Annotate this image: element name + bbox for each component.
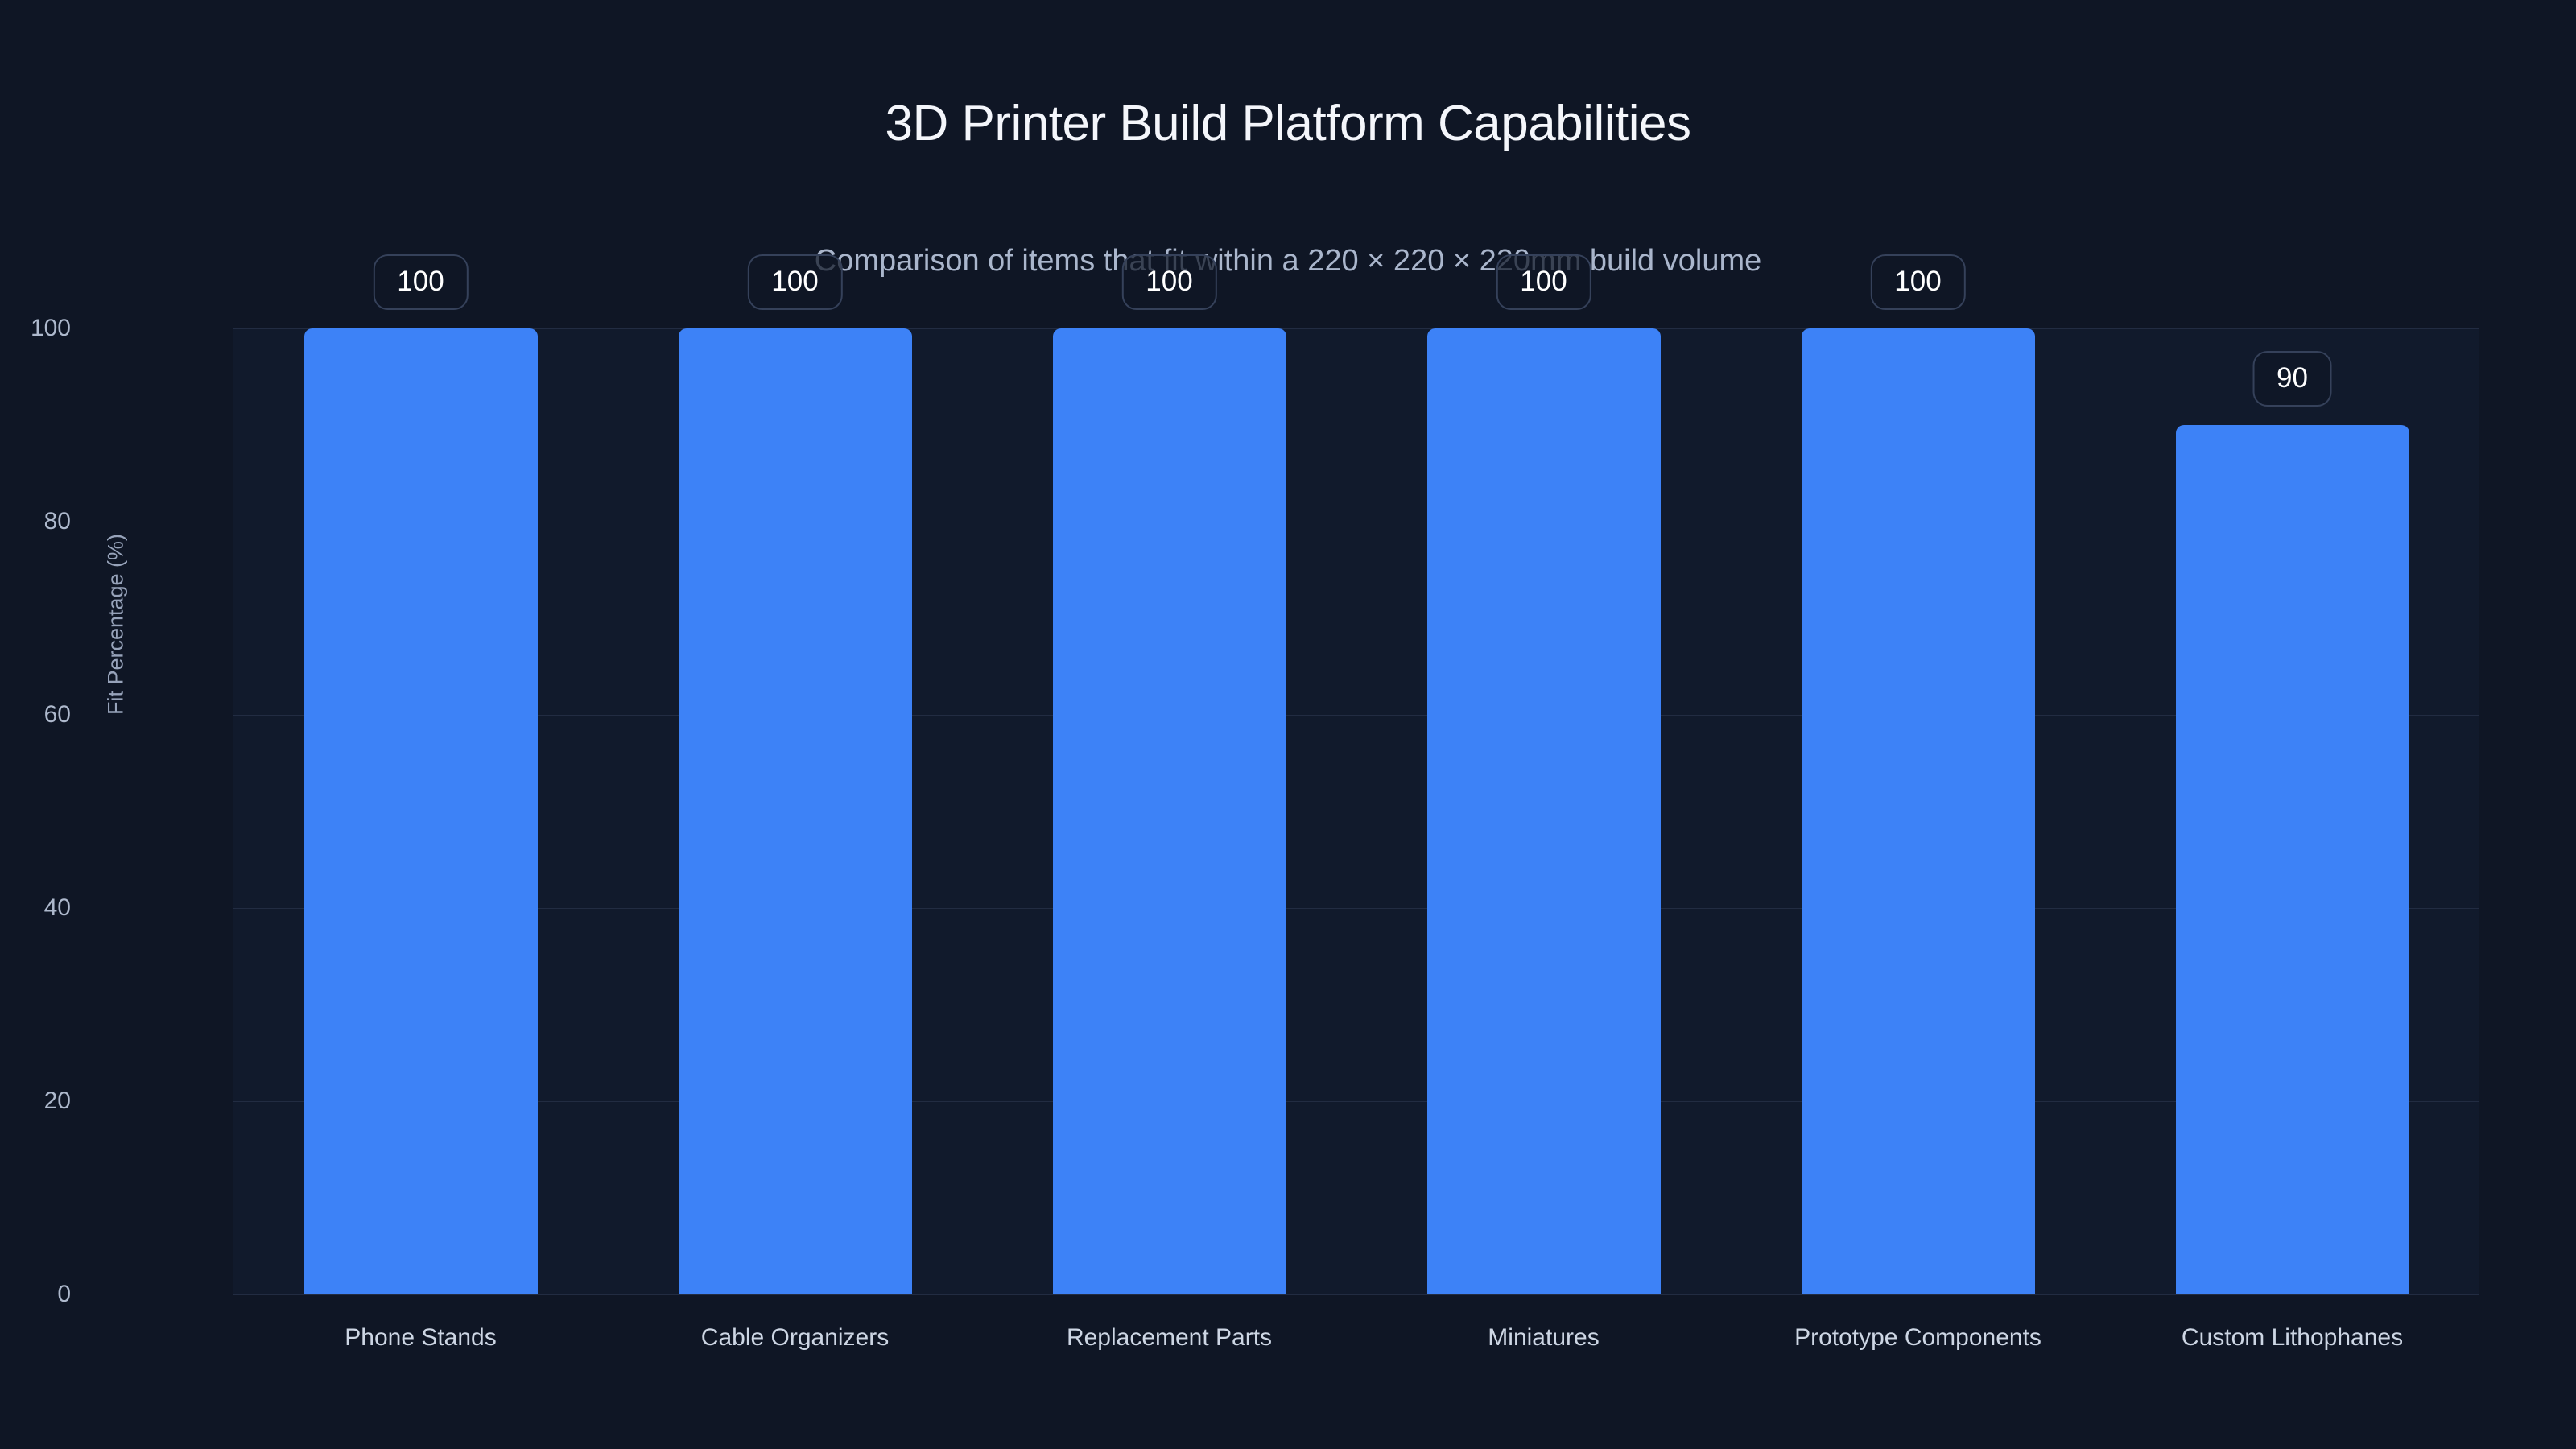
x-axis-tick-label: Phone Stands bbox=[345, 1324, 496, 1352]
gridline bbox=[233, 715, 2479, 716]
x-axis-tick-label: Replacement Parts bbox=[1067, 1324, 1272, 1352]
bar-value-label: 100 bbox=[1870, 254, 1965, 310]
x-axis-tick-label: Custom Lithophanes bbox=[2182, 1324, 2403, 1352]
bar-chart: 3D Printer Build Platform Capabilities C… bbox=[0, 0, 2576, 1449]
y-axis-tick-label: 0 bbox=[0, 1281, 71, 1308]
bar-value-label: 100 bbox=[1496, 254, 1591, 310]
bar[interactable] bbox=[1053, 328, 1286, 1294]
bar[interactable] bbox=[304, 328, 538, 1294]
gridline bbox=[233, 328, 2479, 329]
bar-value-label: 100 bbox=[747, 254, 842, 310]
gridline bbox=[233, 522, 2479, 522]
bar-value-label: 100 bbox=[1121, 254, 1216, 310]
y-axis-tick-label: 100 bbox=[0, 315, 71, 342]
y-axis-title: Fit Percentage (%) bbox=[104, 423, 129, 826]
bar[interactable] bbox=[2176, 425, 2409, 1294]
bar-value-label: 100 bbox=[373, 254, 468, 310]
y-axis-tick-label: 20 bbox=[0, 1088, 71, 1115]
bar-value-label: 90 bbox=[2252, 351, 2332, 407]
bar[interactable] bbox=[1427, 328, 1661, 1294]
x-axis-tick-label: Miniatures bbox=[1488, 1324, 1599, 1352]
bar[interactable] bbox=[1802, 328, 2035, 1294]
x-axis-tick-label: Prototype Components bbox=[1794, 1324, 2041, 1352]
gridline bbox=[233, 1101, 2479, 1102]
bar[interactable] bbox=[679, 328, 912, 1294]
x-axis-tick-label: Cable Organizers bbox=[701, 1324, 889, 1352]
chart-title: 3D Printer Build Platform Capabilities bbox=[0, 95, 2576, 152]
gridline bbox=[233, 908, 2479, 909]
y-axis-tick-label: 40 bbox=[0, 894, 71, 922]
y-axis-tick-label: 60 bbox=[0, 701, 71, 729]
plot-area bbox=[233, 328, 2479, 1294]
y-axis-tick-label: 80 bbox=[0, 508, 71, 535]
gridline bbox=[233, 1294, 2479, 1295]
